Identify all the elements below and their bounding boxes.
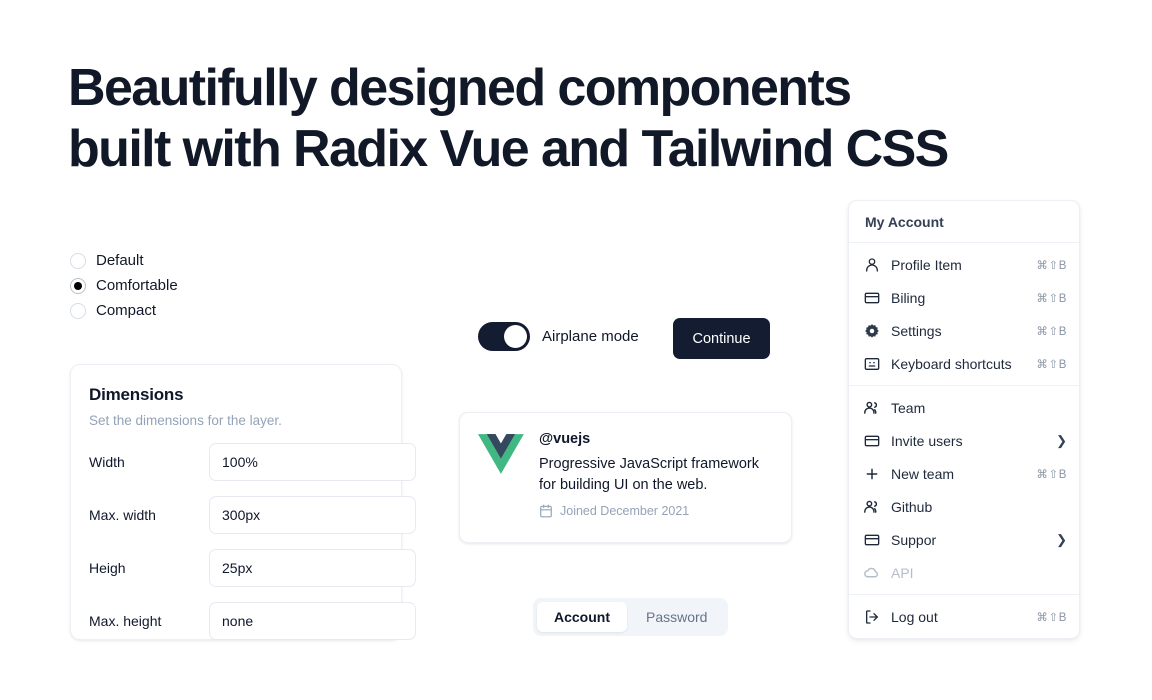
menu-item-label: Team	[891, 400, 1067, 416]
menu-item-label: Log out	[891, 609, 1036, 625]
menu-item-label: Profile Item	[891, 257, 1036, 273]
users-icon	[863, 498, 880, 515]
hero-heading-line2: built with Radix Vue and Tailwind CSS	[68, 119, 1028, 180]
vue-description: Progressive JavaScript framework for bui…	[539, 454, 779, 495]
credit-card-icon	[863, 531, 880, 548]
airplane-mode-toggle[interactable]	[478, 322, 530, 351]
chevron-right-icon: ❯	[1056, 434, 1067, 447]
field-label: Heigh	[89, 560, 209, 576]
menu-item-label: Suppor	[891, 532, 1056, 548]
width-input[interactable]	[209, 443, 416, 481]
menu-item-shortcut: ⌘⇧B	[1036, 258, 1067, 272]
joined-row: Joined December 2021	[539, 504, 779, 518]
plus-icon	[863, 465, 880, 482]
radio-label: Default	[96, 252, 144, 269]
cloud-icon	[863, 564, 880, 581]
user-icon	[863, 256, 880, 273]
tabs-list: Account Password	[533, 598, 728, 636]
airplane-mode-switch-group: Airplane mode	[478, 322, 639, 351]
credit-card-icon	[863, 289, 880, 306]
radio-label: Comfortable	[96, 277, 178, 294]
credit-card-icon	[863, 432, 880, 449]
calendar-icon	[539, 504, 553, 518]
chevron-right-icon: ❯	[1056, 533, 1067, 546]
continue-button[interactable]: Continue	[673, 318, 770, 359]
hero-heading-line1: Beautifully designed components	[68, 59, 851, 117]
joined-text: Joined December 2021	[560, 504, 689, 518]
menu-group-team: Team Invite users ❯ New team	[849, 386, 1079, 594]
airplane-mode-label: Airplane mode	[542, 328, 639, 345]
menu-item-support[interactable]: Suppor ❯	[849, 523, 1079, 556]
menu-item-label: Invite users	[891, 433, 1056, 449]
radio-group: Default Comfortable Compact	[70, 248, 178, 323]
toggle-knob	[504, 325, 527, 348]
menu-item-shortcut: ⌘⇧B	[1036, 610, 1067, 624]
menu-item-label: Settings	[891, 323, 1036, 339]
menu-item-invite-users[interactable]: Invite users ❯	[849, 424, 1079, 457]
keyboard-icon	[863, 355, 880, 372]
menu-group-session: Log out ⌘⇧B	[849, 595, 1079, 638]
radio-option-default[interactable]: Default	[70, 248, 178, 273]
radio-label: Compact	[96, 302, 156, 319]
dimensions-row-max-height: Max. height	[89, 602, 383, 640]
radio-circle-selected-icon	[70, 278, 86, 294]
menu-item-shortcut: ⌘⇧B	[1036, 357, 1067, 371]
tab-password[interactable]: Password	[629, 602, 724, 632]
dimensions-card-subtitle: Set the dimensions for the layer.	[89, 413, 383, 428]
menu-item-profile[interactable]: Profile Item ⌘⇧B	[849, 248, 1079, 281]
dimensions-row-height: Heigh	[89, 549, 383, 587]
menu-item-label: Github	[891, 499, 1067, 515]
menu-item-billing[interactable]: Biling ⌘⇧B	[849, 281, 1079, 314]
menu-item-label: API	[891, 565, 1067, 581]
radio-option-compact[interactable]: Compact	[70, 298, 178, 323]
menu-item-github[interactable]: Github	[849, 490, 1079, 523]
height-input[interactable]	[209, 549, 416, 587]
menu-item-team[interactable]: Team	[849, 391, 1079, 424]
menu-item-shortcut: ⌘⇧B	[1036, 467, 1067, 481]
menu-group-account: Profile Item ⌘⇧B Biling ⌘⇧B	[849, 243, 1079, 385]
menu-item-label: Keyboard shortcuts	[891, 356, 1036, 372]
field-label: Width	[89, 454, 209, 470]
radio-option-comfortable[interactable]: Comfortable	[70, 273, 178, 298]
menu-item-log-out[interactable]: Log out ⌘⇧B	[849, 600, 1079, 633]
vue-logo-icon	[478, 433, 524, 475]
field-label: Max. width	[89, 507, 209, 523]
max-width-input[interactable]	[209, 496, 416, 534]
menu-item-shortcut: ⌘⇧B	[1036, 324, 1067, 338]
menu-label: My Account	[849, 201, 1079, 242]
radio-dot-icon	[74, 282, 82, 290]
users-icon	[863, 399, 880, 416]
dimensions-row-max-width: Max. width	[89, 496, 383, 534]
radio-circle-icon	[70, 253, 86, 269]
radio-circle-icon	[70, 303, 86, 319]
page-root: Beautifully designed components built wi…	[0, 0, 1152, 700]
hero-heading: Beautifully designed components built wi…	[68, 58, 1028, 181]
my-account-dropdown-menu: My Account Profile Item ⌘⇧B Biling	[848, 200, 1080, 639]
vue-hover-card: @vuejs Progressive JavaScript framework …	[459, 412, 792, 543]
logout-icon	[863, 608, 880, 625]
gear-icon	[863, 322, 880, 339]
max-height-input[interactable]	[209, 602, 416, 640]
menu-item-api: API	[849, 556, 1079, 589]
dimensions-card-title: Dimensions	[89, 385, 383, 405]
menu-item-shortcut: ⌘⇧B	[1036, 291, 1067, 305]
hover-card-body: @vuejs Progressive JavaScript framework …	[539, 431, 779, 542]
menu-item-settings[interactable]: Settings ⌘⇧B	[849, 314, 1079, 347]
dimensions-card: Dimensions Set the dimensions for the la…	[70, 364, 402, 640]
menu-item-label: Biling	[891, 290, 1036, 306]
page-title: Beautifully designed components built wi…	[68, 58, 1028, 181]
field-label: Max. height	[89, 613, 209, 629]
dimensions-row-width: Width	[89, 443, 383, 481]
vue-handle: @vuejs	[539, 431, 779, 447]
menu-item-keyboard-shortcuts[interactable]: Keyboard shortcuts ⌘⇧B	[849, 347, 1079, 380]
tab-account[interactable]: Account	[537, 602, 627, 632]
menu-item-new-team[interactable]: New team ⌘⇧B	[849, 457, 1079, 490]
menu-item-label: New team	[891, 466, 1036, 482]
